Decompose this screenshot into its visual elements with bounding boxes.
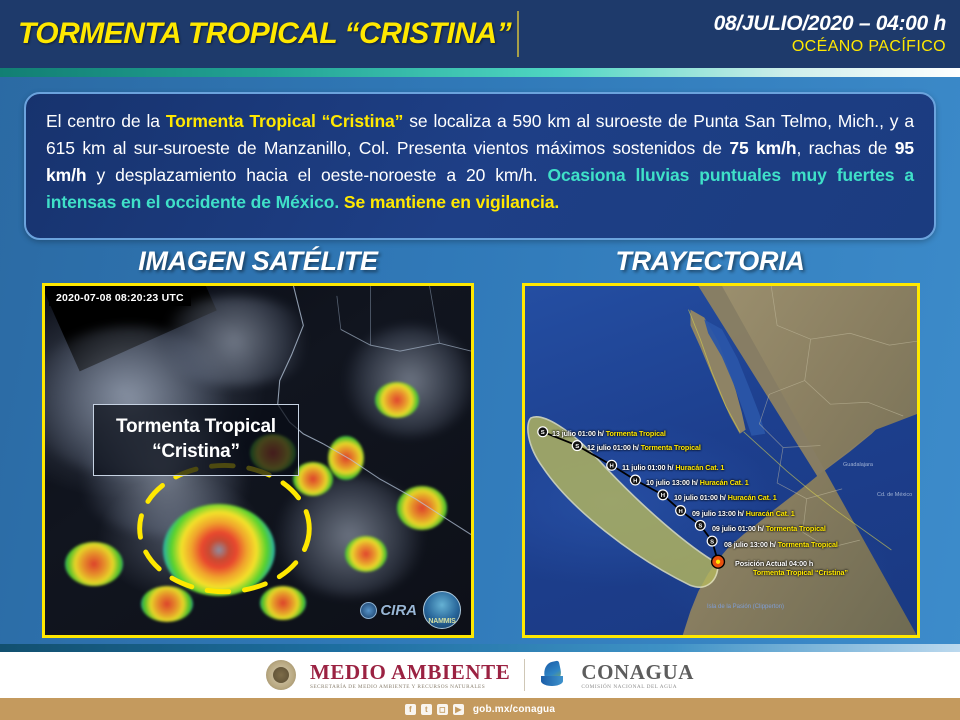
forecast-point-label: 08 julio 13:00 h/ Tormenta Tropical <box>724 540 838 549</box>
advisory-segment: Se mantiene en vigilancia. <box>344 192 559 212</box>
website-url[interactable]: gob.mx/conagua <box>473 704 555 715</box>
advisory-segment: 75 km/h <box>729 138 796 158</box>
advisory-text: El centro de la Tormenta Tropical “Crist… <box>46 108 914 216</box>
trajectory-map: SSHHHHSS 13 julio 01:00 h/ Tormenta Trop… <box>525 286 917 635</box>
satellite-storm-callout-line2: “Cristina” <box>116 439 276 464</box>
satellite-source-logos: CIRA NAMMIS <box>360 591 461 629</box>
satellite-imagery: 2020-07-08 08:20:23 UTC Tormenta Tropica… <box>45 286 471 635</box>
convective-cell <box>293 462 333 496</box>
satellite-timestamp: 2020-07-08 08:20:23 UTC <box>49 290 191 306</box>
forecast-point-label: 12 julio 01:00 h/ Tormenta Tropical <box>587 443 701 452</box>
map-city-label: Cd. de México <box>877 492 912 498</box>
convective-cell <box>328 436 364 480</box>
instagram-icon[interactable]: ◻ <box>437 704 448 715</box>
agency-title: CONAGUA <box>581 661 694 683</box>
conagua-logo-icon <box>539 660 567 690</box>
header-divider <box>517 11 519 57</box>
island-label: Isla de la Pasión (Clipperton) <box>707 604 784 610</box>
storm-center-cristina <box>163 504 275 596</box>
advisory-segment: El centro de la <box>46 111 166 131</box>
ministry-subtitle: SECRETARÍA DE MEDIO AMBIENTE Y RECURSOS … <box>310 684 510 690</box>
page-title: TORMENTA TROPICAL “CRISTINA” <box>0 17 511 51</box>
facebook-icon[interactable]: f <box>405 704 416 715</box>
convective-cell <box>375 382 419 418</box>
footer-gradient-divider <box>0 644 960 652</box>
ministry-title: MEDIO AMBIENTE <box>310 661 510 683</box>
forecast-point-label: 13 julio 01:00 h/ Tormenta Tropical <box>552 429 666 438</box>
advisory-segment: y desplazamiento hacia el oeste-noroeste… <box>86 165 547 185</box>
satellite-section-title: IMAGEN SATÉLITE <box>48 246 468 277</box>
cira-badge-icon <box>360 602 377 619</box>
footer-social-bar: f t ◻ ▶ gob.mx/conagua <box>0 698 960 720</box>
cloud-mass <box>155 296 315 386</box>
cloud-mass <box>345 326 474 436</box>
page-header: TORMENTA TROPICAL “CRISTINA” 08/JULIO/20… <box>0 0 960 68</box>
nammis-logo: NAMMIS <box>423 591 461 629</box>
agency-subtitle: COMISIÓN NACIONAL DEL AGUA <box>581 684 694 690</box>
cira-logo-label: CIRA <box>380 602 417 619</box>
satellite-storm-callout-line1: Tormenta Tropical <box>116 414 276 439</box>
ministry-brand: MEDIO AMBIENTE SECRETARÍA DE MEDIO AMBIE… <box>310 661 510 690</box>
nammis-logo-label: NAMMIS <box>428 618 455 625</box>
map-city-label: Guadalajara <box>843 462 873 468</box>
convective-cell <box>260 586 306 620</box>
bulletin-datetime: 08/JULIO/2020 – 04:00 h <box>714 12 946 36</box>
forecast-point-label: 09 julio 13:00 h/ Huracán Cat. 1 <box>692 509 795 518</box>
forecast-point-label: 09 julio 01:00 h/ Tormenta Tropical <box>712 524 826 533</box>
convective-cell <box>345 536 387 572</box>
current-position-label: Posición Actual 04:00 hTormenta Tropical… <box>735 559 848 577</box>
convective-cell <box>141 586 193 622</box>
satellite-storm-callout: Tormenta Tropical “Cristina” <box>93 404 299 476</box>
advisory-segment: , rachas de <box>796 138 894 158</box>
mexican-coat-of-arms-icon <box>266 660 296 690</box>
forecast-point-label: 10 julio 13:00 h/ Huracán Cat. 1 <box>646 478 749 487</box>
twitter-icon[interactable]: t <box>421 704 432 715</box>
forecast-point-label: 11 julio 01:00 h/ Huracán Cat. 1 <box>622 463 724 472</box>
trajectory-map-panel[interactable]: SSHHHHSS 13 julio 01:00 h/ Tormenta Trop… <box>522 283 920 638</box>
forecast-point-label: 10 julio 01:00 h/ Huracán Cat. 1 <box>674 493 777 502</box>
agency-brand: CONAGUA COMISIÓN NACIONAL DEL AGUA <box>581 661 694 690</box>
header-gradient-divider <box>0 68 960 77</box>
cira-logo: CIRA <box>360 602 417 619</box>
brand-row: MEDIO AMBIENTE SECRETARÍA DE MEDIO AMBIE… <box>266 659 694 691</box>
convective-cell <box>65 542 123 586</box>
header-meta: 08/JULIO/2020 – 04:00 h OCÉANO PACÍFICO <box>533 12 960 56</box>
advisory-text-box: El centro de la Tormenta Tropical “Crist… <box>24 92 936 240</box>
ocean-basin-label: OCÉANO PACÍFICO <box>792 38 946 56</box>
convective-cell <box>397 486 447 530</box>
footer-branding: MEDIO AMBIENTE SECRETARÍA DE MEDIO AMBIE… <box>0 652 960 698</box>
advisory-segment: Tormenta Tropical “Cristina” <box>166 111 403 131</box>
satellite-image-panel[interactable]: 2020-07-08 08:20:23 UTC Tormenta Tropica… <box>42 283 474 638</box>
trajectory-section-title: TRAYECTORIA <box>500 246 920 277</box>
brand-divider <box>524 659 525 691</box>
youtube-icon[interactable]: ▶ <box>453 704 464 715</box>
trajectory-point-labels: 13 julio 01:00 h/ Tormenta Tropical12 ju… <box>525 286 917 635</box>
